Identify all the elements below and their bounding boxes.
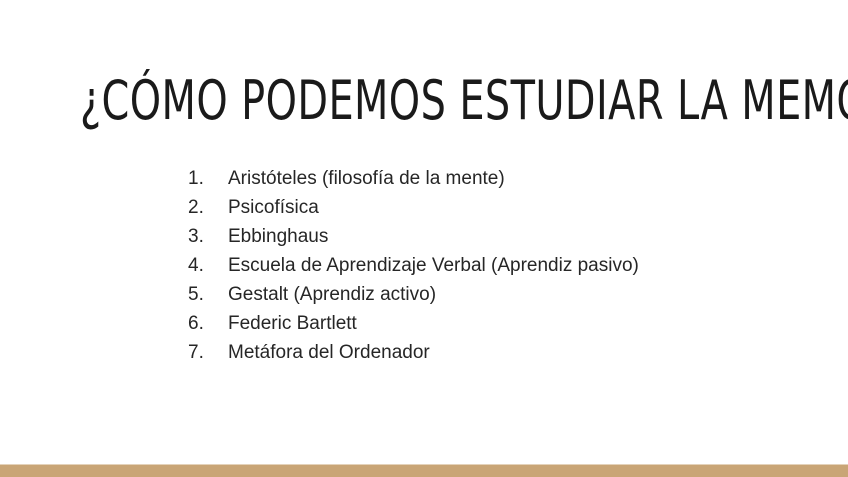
list-item-marker: 2.	[188, 193, 228, 222]
list-item-marker: 7.	[188, 338, 228, 367]
footer-accent-bar	[0, 464, 848, 477]
list-item: 4.Escuela de Aprendizaje Verbal (Aprendi…	[188, 251, 808, 280]
list-item-label: Aristóteles (filosofía de la mente)	[228, 164, 505, 193]
list-item-label: Escuela de Aprendizaje Verbal (Aprendiz …	[228, 251, 639, 280]
list-item: 2.Psicofísica	[188, 193, 808, 222]
list-item: 7.Metáfora del Ordenador	[188, 338, 808, 367]
list-item-label: Federic Bartlett	[228, 309, 357, 338]
slide-title: ¿CÓMO PODEMOS ESTUDIAR LA MEMORIA?	[80, 72, 654, 134]
list-item-marker: 5.	[188, 280, 228, 309]
list-item: 6.Federic Bartlett	[188, 309, 808, 338]
footer-accent-bar-fill	[0, 465, 848, 477]
list-item: 5.Gestalt (Aprendiz activo)	[188, 280, 808, 309]
list-item-marker: 4.	[188, 251, 228, 280]
list-item: 3.Ebbinghaus	[188, 222, 808, 251]
list-item-label: Psicofísica	[228, 193, 319, 222]
list-item-marker: 1.	[188, 164, 228, 193]
list-item-label: Metáfora del Ordenador	[228, 338, 430, 367]
list-item: 1.Aristóteles (filosofía de la mente)	[188, 164, 808, 193]
numbered-list: 1.Aristóteles (filosofía de la mente)2.P…	[188, 164, 808, 367]
presentation-slide: ¿CÓMO PODEMOS ESTUDIAR LA MEMORIA? 1.Ari…	[0, 0, 848, 477]
list-item-marker: 6.	[188, 309, 228, 338]
list-item-marker: 3.	[188, 222, 228, 251]
list-item-label: Gestalt (Aprendiz activo)	[228, 280, 436, 309]
list-item-label: Ebbinghaus	[228, 222, 328, 251]
